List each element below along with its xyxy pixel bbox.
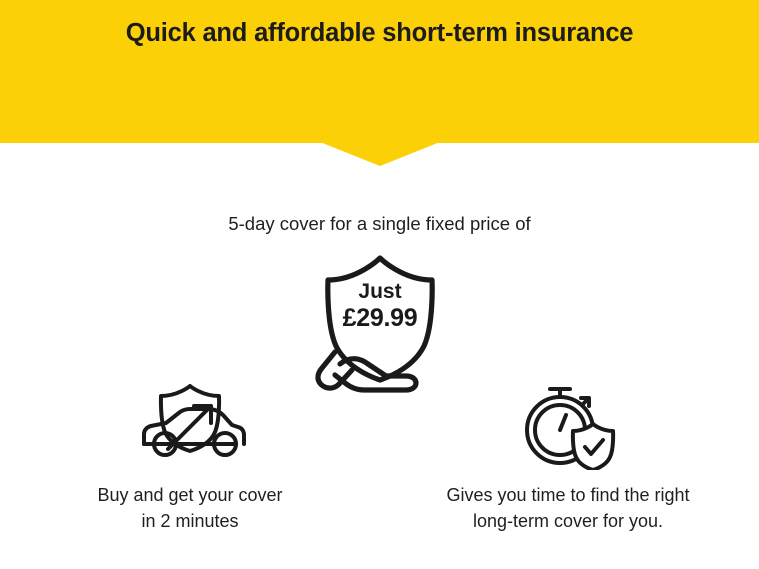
feature-caption-line1: Buy and get your cover [40, 482, 340, 508]
feature-time-to-choose: Gives you time to find the right long-te… [418, 378, 718, 534]
banner-headline: Quick and affordable short-term insuranc… [0, 18, 759, 48]
shield-in-hand-icon [302, 252, 458, 394]
chevron-down-notch-icon [320, 142, 440, 166]
feature-buy-fast: Buy and get your cover in 2 minutes [40, 378, 340, 534]
infographic-page: g Quick and affordable short-term insura… [0, 0, 759, 569]
car-shield-arrow-icon [40, 378, 340, 470]
feature-caption: Buy and get your cover in 2 minutes [40, 482, 340, 534]
feature-caption-line1: Gives you time to find the right [418, 482, 718, 508]
stopwatch-shield-check-icon [418, 378, 718, 470]
feature-caption: Gives you time to find the right long-te… [418, 482, 718, 534]
hero-caption: 5-day cover for a single fixed price of [0, 212, 759, 236]
feature-caption-line2: in 2 minutes [40, 508, 340, 534]
hero-banner: g Quick and affordable short-term insura… [0, 0, 759, 143]
feature-caption-line2: long-term cover for you. [418, 508, 718, 534]
